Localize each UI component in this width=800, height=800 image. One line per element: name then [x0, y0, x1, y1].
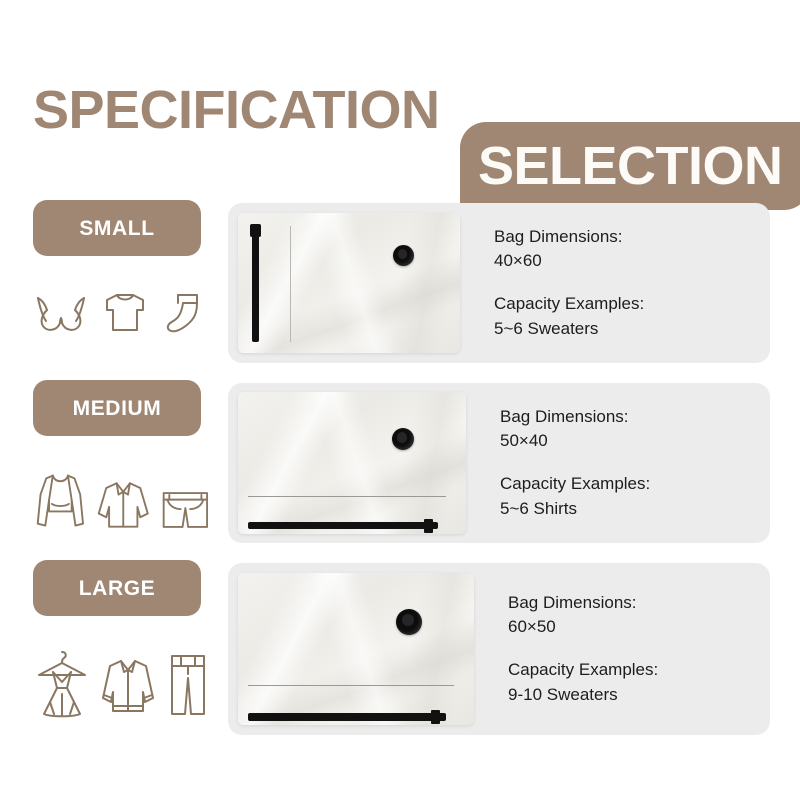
spec-details-medium: Bag Dimensions: 50×40 Capacity Examples:…	[466, 405, 770, 522]
air-valve-small	[393, 245, 414, 266]
size-column-medium: MEDIUM	[33, 380, 213, 436]
capacity-value: 5~6 Shirts	[500, 497, 770, 522]
dimensions-block-large: Bag Dimensions: 60×50	[508, 591, 770, 640]
air-valve-inner	[398, 249, 408, 259]
trousers-icon	[165, 650, 211, 720]
size-column-small: SMALL	[33, 200, 213, 256]
collared-shirt-icon	[94, 474, 153, 536]
product-image-large	[238, 573, 474, 725]
product-image-medium	[238, 392, 466, 534]
zipper-slider-small	[250, 224, 261, 237]
bomber-jacket-icon	[97, 654, 159, 720]
air-valve-large	[396, 609, 422, 635]
zipper-horizontal-medium	[248, 522, 438, 529]
page-title: SPECIFICATION	[33, 60, 440, 160]
dimensions-value: 60×50	[508, 615, 770, 640]
spec-row-medium: MEDIUM	[0, 380, 800, 550]
size-badge-small[interactable]: SMALL	[33, 200, 201, 256]
capacity-label: Capacity Examples:	[500, 472, 770, 497]
shorts-icon	[158, 484, 213, 536]
size-column-large: LARGE	[33, 560, 213, 616]
vacuum-bag-large	[238, 573, 474, 725]
dress-on-hanger-icon	[33, 648, 91, 720]
product-image-small	[238, 213, 460, 353]
dimensions-label: Bag Dimensions:	[508, 591, 770, 616]
spec-card-large: Bag Dimensions: 60×50 Capacity Examples:…	[228, 563, 770, 735]
title-badge-text: SELECTION	[478, 139, 783, 193]
zipper-horizontal-large	[248, 713, 446, 721]
garment-icon-strip-medium	[33, 468, 213, 536]
title-primary-text: SPECIFICATION	[33, 83, 440, 137]
size-badge-label: MEDIUM	[73, 398, 162, 419]
size-badge-label: SMALL	[79, 218, 154, 239]
dimensions-label: Bag Dimensions:	[500, 405, 770, 430]
spec-details-large: Bag Dimensions: 60×50 Capacity Examples:…	[474, 591, 770, 708]
zipper-slider-medium	[424, 519, 433, 533]
capacity-value: 5~6 Sweaters	[494, 317, 770, 342]
capacity-block-small: Capacity Examples: 5~6 Sweaters	[494, 292, 770, 341]
dimensions-block-small: Bag Dimensions: 40×60	[494, 225, 770, 274]
title-badge: SELECTION	[460, 122, 800, 210]
seam-line-medium	[248, 496, 446, 497]
vacuum-bag-small	[238, 213, 460, 353]
spec-card-small: Bag Dimensions: 40×60 Capacity Examples:…	[228, 203, 770, 363]
air-valve-inner	[402, 614, 414, 626]
size-badge-label: LARGE	[79, 578, 156, 599]
sock-icon	[161, 288, 209, 336]
garment-icon-strip-small	[33, 288, 213, 336]
seam-line-large	[248, 685, 454, 686]
zipper-vertical-small	[252, 224, 259, 342]
tshirt-icon	[99, 288, 151, 336]
dimensions-value: 40×60	[494, 249, 770, 274]
dimensions-label: Bag Dimensions:	[494, 225, 770, 250]
garment-icon-strip-large	[33, 648, 213, 720]
long-sleeve-top-icon	[33, 468, 88, 536]
capacity-value: 9-10 Sweaters	[508, 683, 770, 708]
size-badge-large[interactable]: LARGE	[33, 560, 201, 616]
capacity-label: Capacity Examples:	[494, 292, 770, 317]
capacity-label: Capacity Examples:	[508, 658, 770, 683]
dimensions-block-medium: Bag Dimensions: 50×40	[500, 405, 770, 454]
air-valve-inner	[397, 432, 407, 442]
dimensions-value: 50×40	[500, 429, 770, 454]
seam-line-small	[290, 226, 291, 342]
spec-row-large: LARGE	[0, 560, 800, 745]
specification-selection-infographic: SPECIFICATION SELECTION SMALL	[0, 0, 800, 800]
capacity-block-medium: Capacity Examples: 5~6 Shirts	[500, 472, 770, 521]
page-header: SPECIFICATION SELECTION	[0, 60, 800, 170]
zipper-slider-large	[431, 710, 440, 724]
size-badge-medium[interactable]: MEDIUM	[33, 380, 201, 436]
spec-details-small: Bag Dimensions: 40×60 Capacity Examples:…	[460, 225, 770, 342]
spec-row-small: SMALL	[0, 200, 800, 370]
air-valve-medium	[392, 428, 414, 450]
vacuum-bag-medium	[238, 392, 466, 534]
spec-card-medium: Bag Dimensions: 50×40 Capacity Examples:…	[228, 383, 770, 543]
bra-icon	[33, 288, 89, 336]
capacity-block-large: Capacity Examples: 9-10 Sweaters	[508, 658, 770, 707]
